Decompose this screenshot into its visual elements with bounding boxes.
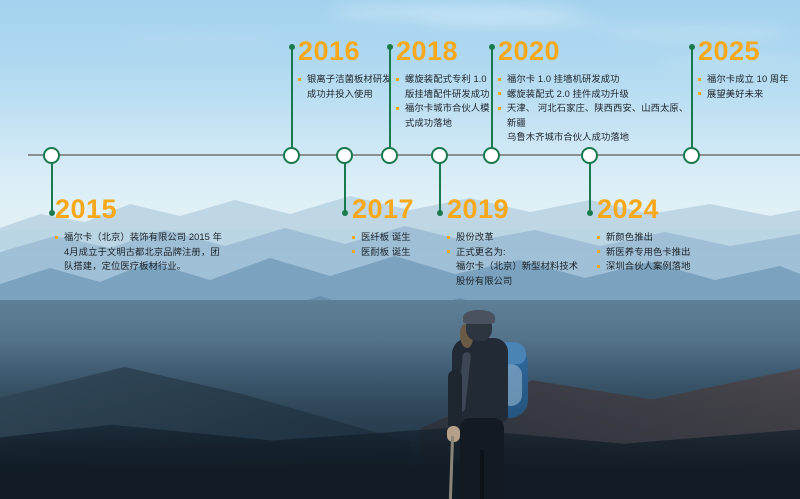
bullet-item: 新颜色推出 — [597, 230, 717, 245]
year-label: 2025 — [698, 38, 798, 65]
node-ring — [336, 147, 353, 164]
timeline-entry-2017[interactable]: 2017 医纤板 诞生 医耐板 诞生 — [352, 196, 442, 259]
year-label: 2017 — [352, 196, 442, 223]
bullet-item: 银离子洁菌板材研发 — [298, 72, 394, 87]
bullet-list: 福尔卡 1.0 挂墙机研发成功 螺旋装配式 2.0 挂件成功升级 天津、 河北石… — [498, 72, 690, 145]
year-label: 2024 — [597, 196, 717, 223]
bullet-item: 4月成立于文明古都北京品牌注册，团 — [55, 245, 245, 260]
bullet-item: 队搭建，定位医疗板材行业。 — [55, 259, 245, 274]
bullet-item: 福尔卡城市合伙人模 — [396, 101, 496, 116]
node-ring — [483, 147, 500, 164]
bullet-list: 股份改革 正式更名为: 福尔卡（北京）新型材料技术 股份有限公司 — [447, 230, 579, 288]
node-end-dot — [289, 44, 295, 50]
node-ring — [431, 147, 448, 164]
timeline-entry-2025[interactable]: 2025 福尔卡成立 10 周年 展望美好未来 — [698, 38, 798, 101]
bullet-item: 医纤板 诞生 — [352, 230, 442, 245]
bullet-item: 福尔卡 1.0 挂墙机研发成功 — [498, 72, 690, 87]
bullet-item: 股份改革 — [447, 230, 579, 245]
bullet-item: 螺旋装配式 2.0 挂件成功升级 — [498, 87, 690, 102]
hiker-cap — [463, 310, 495, 324]
node-ring — [283, 147, 300, 164]
node-stem — [589, 162, 591, 213]
node-ring — [43, 147, 60, 164]
timeline-infographic: 2015 福尔卡（北京）装饰有限公司 2015 年 4月成立于文明古都北京品牌注… — [0, 0, 800, 499]
hiker-arm — [448, 370, 462, 432]
node-end-dot — [342, 210, 348, 216]
bullet-item: 成功并投入使用 — [298, 87, 394, 102]
node-stem — [389, 46, 391, 147]
timeline-entry-2018[interactable]: 2018 螺旋装配式专利 1.0 版挂墙配件研发成功 福尔卡城市合伙人模 式成功… — [396, 38, 496, 130]
year-label: 2015 — [55, 196, 245, 223]
node-end-dot — [587, 210, 593, 216]
year-label: 2016 — [298, 38, 394, 65]
bullet-item: 福尔卡（北京）装饰有限公司 2015 年 — [55, 230, 245, 245]
node-end-dot — [387, 44, 393, 50]
bullet-list: 螺旋装配式专利 1.0 版挂墙配件研发成功 福尔卡城市合伙人模 式成功落地 — [396, 72, 496, 130]
hiker-figure — [430, 310, 550, 499]
node-end-dot — [437, 210, 443, 216]
node-ring — [683, 147, 700, 164]
node-stem — [691, 46, 693, 147]
year-label: 2020 — [498, 38, 690, 65]
year-label: 2018 — [396, 38, 496, 65]
bullet-item: 展望美好未来 — [698, 87, 798, 102]
bullet-list: 银离子洁菌板材研发 成功并投入使用 — [298, 72, 394, 101]
timeline-entry-2015[interactable]: 2015 福尔卡（北京）装饰有限公司 2015 年 4月成立于文明古都北京品牌注… — [55, 196, 245, 274]
node-stem — [491, 46, 493, 147]
bullet-item: 福尔卡（北京）新型材料技术 — [447, 259, 579, 274]
year-label: 2019 — [447, 196, 579, 223]
bullet-item: 式成功落地 — [396, 116, 496, 131]
node-ring — [581, 147, 598, 164]
node-end-dot — [489, 44, 495, 50]
timeline-entry-2024[interactable]: 2024 新颜色推出 新医养专用色卡推出 深圳合伙人案例落地 — [597, 196, 717, 274]
bullet-item: 螺旋装配式专利 1.0 — [396, 72, 496, 87]
bullet-list: 福尔卡（北京）装饰有限公司 2015 年 4月成立于文明古都北京品牌注册，团 队… — [55, 230, 245, 274]
cloud — [420, 16, 610, 28]
cloud — [120, 34, 280, 44]
bullet-item: 乌鲁木齐城市合伙人成功落地 — [498, 130, 690, 145]
timeline-entry-2016[interactable]: 2016 银离子洁菌板材研发 成功并投入使用 — [298, 38, 394, 101]
bullet-item: 福尔卡成立 10 周年 — [698, 72, 798, 87]
node-stem — [344, 162, 346, 213]
node-stem — [439, 162, 441, 213]
bullet-item: 医耐板 诞生 — [352, 245, 442, 260]
bullet-item: 天津、 河北石家庄、陕西西安、山西太原、新疆 — [498, 101, 690, 130]
timeline-entry-2019[interactable]: 2019 股份改革 正式更名为: 福尔卡（北京）新型材料技术 股份有限公司 — [447, 196, 579, 288]
bullet-item: 正式更名为: — [447, 245, 579, 260]
node-stem — [291, 46, 293, 147]
hiker-leg-gap — [480, 450, 484, 499]
bullet-item: 深圳合伙人案例落地 — [597, 259, 717, 274]
bullet-item: 新医养专用色卡推出 — [597, 245, 717, 260]
trekking-pole — [449, 436, 454, 499]
bullet-list: 福尔卡成立 10 周年 展望美好未来 — [698, 72, 798, 101]
node-end-dot — [689, 44, 695, 50]
bullet-item: 股份有限公司 — [447, 274, 579, 289]
timeline-entry-2020[interactable]: 2020 福尔卡 1.0 挂墙机研发成功 螺旋装配式 2.0 挂件成功升级 天津… — [498, 38, 690, 145]
bullet-list: 医纤板 诞生 医耐板 诞生 — [352, 230, 442, 259]
node-ring — [381, 147, 398, 164]
node-stem — [51, 162, 53, 213]
bullet-item: 版挂墙配件研发成功 — [396, 87, 496, 102]
bullet-list: 新颜色推出 新医养专用色卡推出 深圳合伙人案例落地 — [597, 230, 717, 274]
